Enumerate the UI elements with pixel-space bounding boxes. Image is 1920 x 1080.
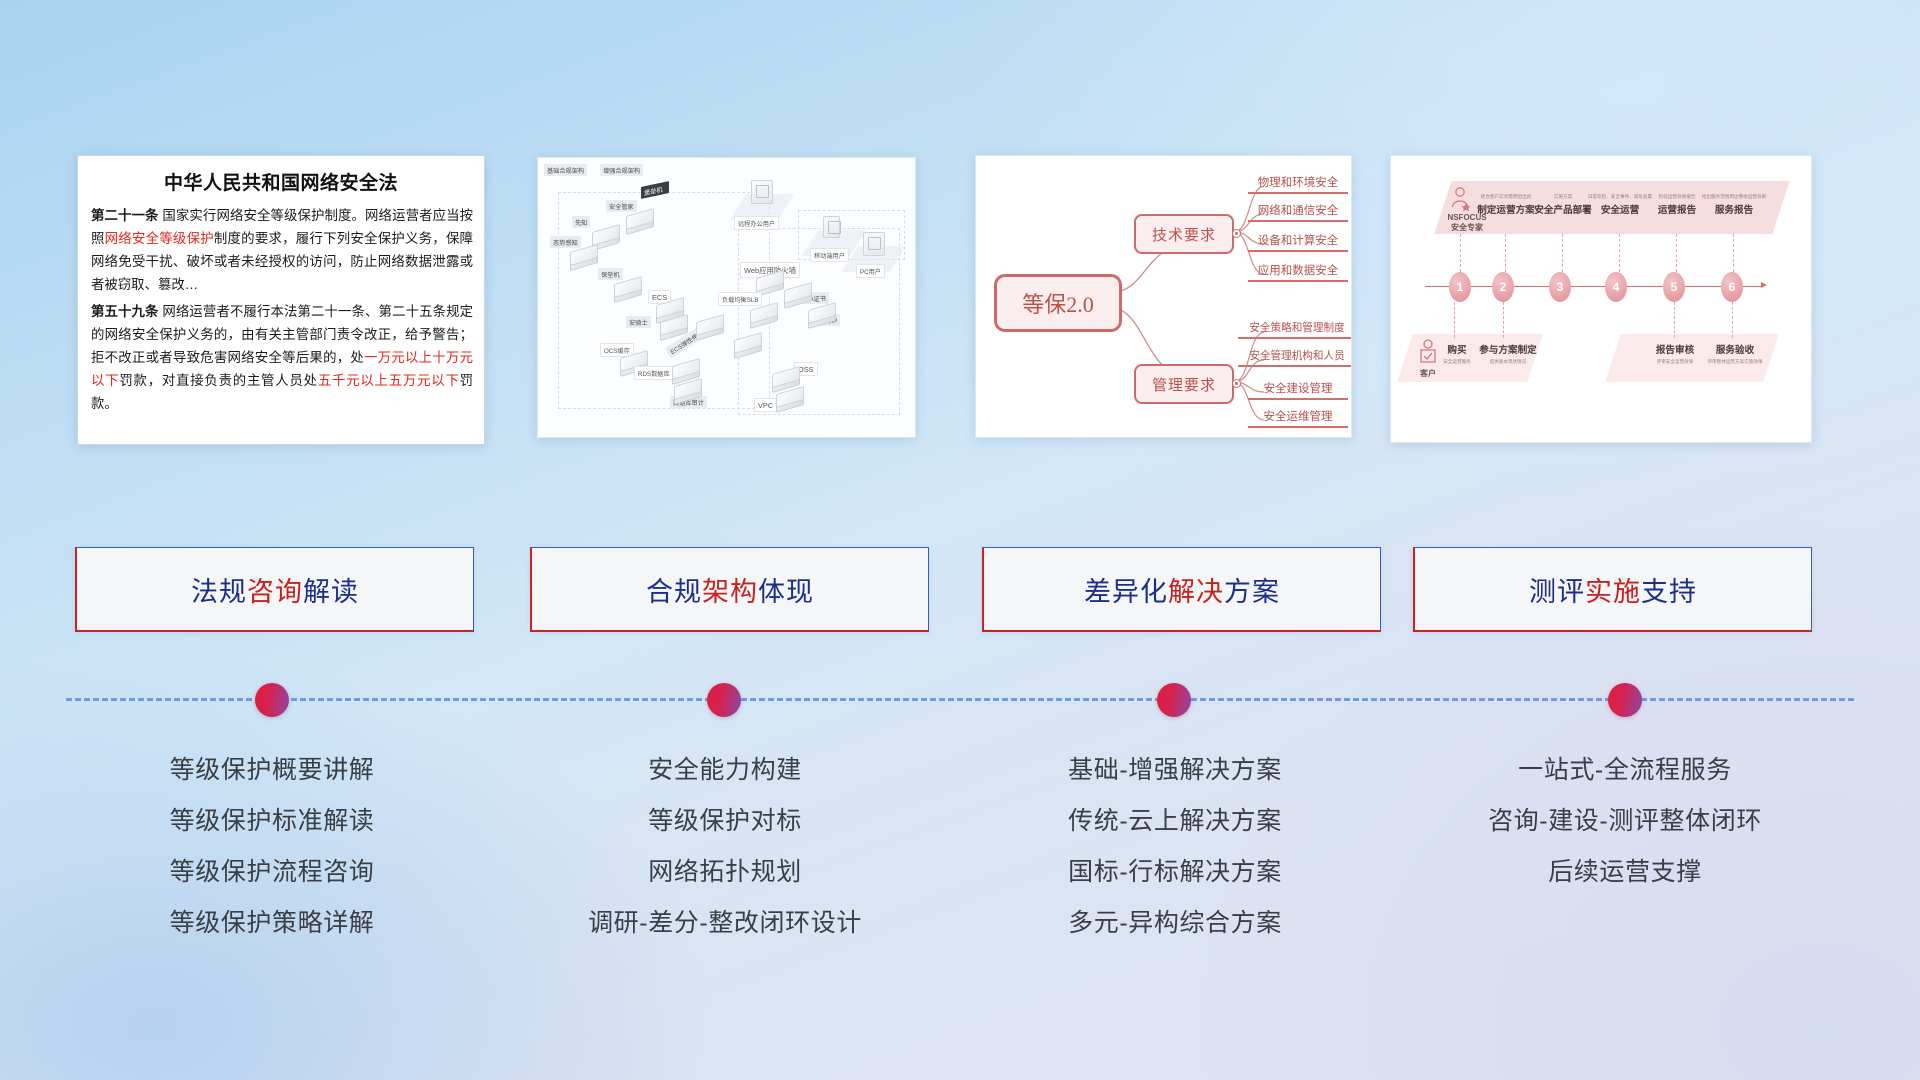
column-list-1: 等级保护概要讲解 等级保护标准解读 等级保护流程咨询 等级保护策略详解 xyxy=(72,745,472,949)
hb4-mid: 实施 xyxy=(1585,577,1641,607)
timeline-dot-1[interactable] xyxy=(255,683,289,717)
headline-box-4-text: 测评实施支持 xyxy=(1529,570,1697,609)
hb3-mid: 解决 xyxy=(1168,577,1224,607)
headline-box-3-text: 差异化解决方案 xyxy=(1084,570,1280,609)
hb3-pre: 差异化 xyxy=(1084,577,1168,607)
list-item: 网络拓扑规划 xyxy=(525,847,925,898)
poster-canvas: 中华人民共和国网络安全法 第二十一条 国家实行网络安全等级保护制度。网络运营者应… xyxy=(0,0,1920,1080)
list-item: 国标-行标解决方案 xyxy=(975,847,1375,898)
list-item: 等级保护概要讲解 xyxy=(72,745,472,796)
list-item: 一站式-全流程服务 xyxy=(1425,745,1825,796)
list-item: 后续运营支撑 xyxy=(1425,847,1825,898)
headline-box-1[interactable]: 法规咨询解读 xyxy=(75,547,474,632)
headline-box-2-text: 合规架构体现 xyxy=(646,570,814,609)
column-list-2: 安全能力构建 等级保护对标 网络拓扑规划 调研-差分-整改闭环设计 xyxy=(525,745,925,949)
hb4-pre: 测评 xyxy=(1529,577,1585,607)
headline-box-3[interactable]: 差异化解决方案 xyxy=(982,547,1381,632)
list-item: 等级保护流程咨询 xyxy=(72,847,472,898)
list-item: 等级保护标准解读 xyxy=(72,796,472,847)
hb2-pre: 合规 xyxy=(646,577,702,607)
hb1-post: 解读 xyxy=(303,577,359,607)
hb3-post: 方案 xyxy=(1224,577,1280,607)
timeline-dot-2[interactable] xyxy=(707,683,741,717)
list-item: 安全能力构建 xyxy=(525,745,925,796)
headline-box-4[interactable]: 测评实施支持 xyxy=(1413,547,1812,632)
hb2-mid: 架构 xyxy=(702,577,758,607)
timeline-dashed-line xyxy=(66,698,1854,701)
timeline-dot-3[interactable] xyxy=(1157,683,1191,717)
list-item: 调研-差分-整改闭环设计 xyxy=(525,898,925,949)
hb1-mid: 咨询 xyxy=(247,577,303,607)
hb2-post: 体现 xyxy=(758,577,814,607)
timeline-dot-4[interactable] xyxy=(1608,683,1642,717)
hb1-pre: 法规 xyxy=(191,577,247,607)
headline-box-2[interactable]: 合规架构体现 xyxy=(530,547,929,632)
list-item: 基础-增强解决方案 xyxy=(975,745,1375,796)
list-item: 多元-异构综合方案 xyxy=(975,898,1375,949)
column-list-3: 基础-增强解决方案 传统-云上解决方案 国标-行标解决方案 多元-异构综合方案 xyxy=(975,745,1375,949)
list-item: 等级保护策略详解 xyxy=(72,898,472,949)
list-item: 等级保护对标 xyxy=(525,796,925,847)
headline-box-1-text: 法规咨询解读 xyxy=(191,570,359,609)
hb4-post: 支持 xyxy=(1641,577,1697,607)
list-item: 咨询-建设-测评整体闭环 xyxy=(1425,796,1825,847)
list-item: 传统-云上解决方案 xyxy=(975,796,1375,847)
column-list-4: 一站式-全流程服务 咨询-建设-测评整体闭环 后续运营支撑 xyxy=(1425,745,1825,898)
